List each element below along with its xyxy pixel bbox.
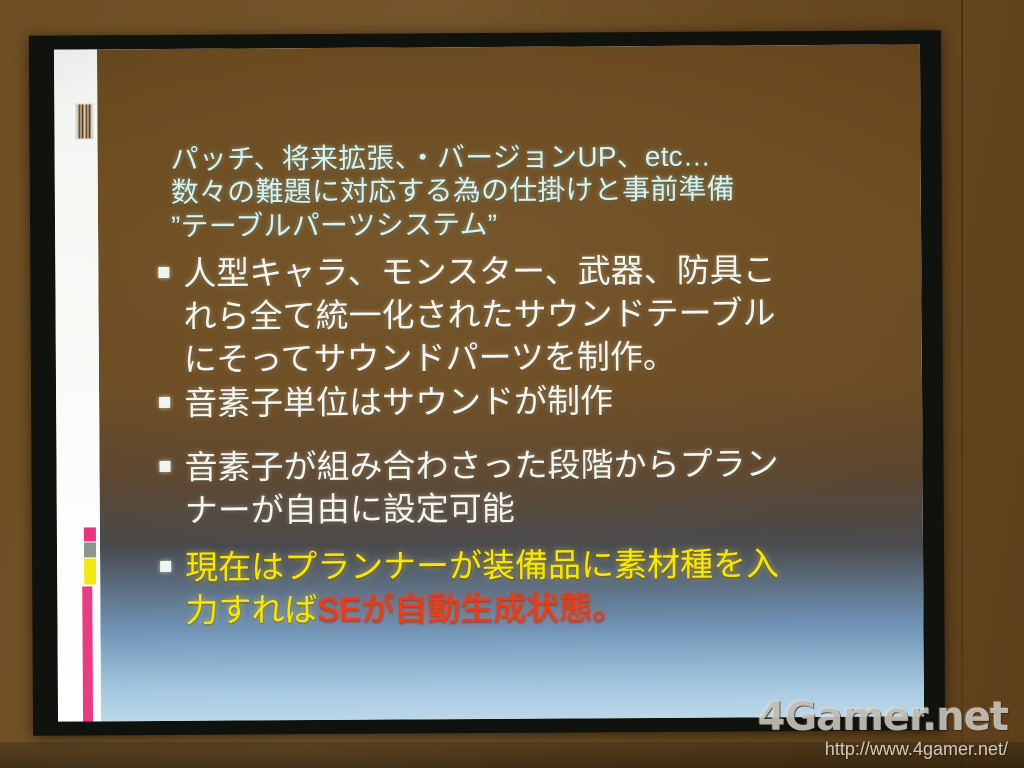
watermark-url: http://www.4gamer.net/ (758, 738, 1008, 760)
square-bullet-icon (159, 397, 170, 408)
watermark-logo: 4Gamer.net (758, 697, 1008, 737)
lede-line-1: パッチ、将来拡張、・バージョンUP、etc… (171, 140, 712, 176)
bullet-line: 現在はプランナーが装備品に素材種を入 (185, 541, 920, 588)
bullet-text: 現在はプランナーが装備品に素材種を入 力すればSEが自動生成状態。 (185, 541, 921, 631)
square-bullet-icon (159, 461, 170, 472)
bullet-item: 音素子が組み合わさった段階からプラン ナーが自由に設定可能 (159, 441, 920, 532)
slide-photo: パッチ、将来拡張、・バージョンUP、etc… 数々の難題に対応する為の仕掛けと事… (0, 0, 1024, 768)
bullet-line-plain: 力すれば (185, 591, 317, 629)
bullet-line: 力すればSEが自動生成状態。 (185, 584, 920, 631)
square-bullet-icon (158, 267, 169, 278)
bullet-line-highlight: SEが自動生成状態。 (317, 589, 625, 628)
slide-left-margin-column (54, 49, 101, 721)
swatch-yellow-icon (84, 558, 96, 584)
bullet-line: 音素子単位はサウンドが制作 (184, 377, 919, 424)
bullet-line: 音素子が組み合わさった段階からプラン (184, 441, 919, 488)
projection-screen-frame: パッチ、将来拡張、・バージョンUP、etc… 数々の難題に対応する為の仕掛けと事… (29, 30, 945, 736)
magenta-accent-bar (82, 586, 93, 721)
wall-seam (961, 0, 963, 768)
stripe-decoration-icon (75, 103, 93, 139)
bullet-item-highlighted: 現在はプランナーが装備品に素材種を入 力すればSEが自動生成状態。 (160, 541, 921, 632)
bullet-item: 音素子単位はサウンドが制作 (159, 377, 919, 425)
bullet-text: 人型キャラ、モンスター、武器、防具こ れら全て統一化されたサウンドテーブル にそ… (183, 247, 919, 380)
presentation-slide: パッチ、将来拡張、・バージョンUP、etc… 数々の難題に対応する為の仕掛けと事… (54, 44, 924, 721)
swatch-gray-icon (84, 542, 96, 557)
bullet-item: 人型キャラ、モンスター、武器、防具こ れら全て統一化されたサウンドテーブル にそ… (158, 247, 919, 381)
lede-line-3: ”テーブルパーツシステム” (171, 208, 497, 243)
watermark: 4Gamer.net http://www.4gamer.net/ (758, 697, 1008, 760)
bullet-text: 音素子単位はサウンドが制作 (184, 377, 919, 424)
slide-text-layer: パッチ、将来拡張、・バージョンUP、etc… 数々の難題に対応する為の仕掛けと事… (97, 44, 924, 721)
bullet-line: 人型キャラ、モンスター、武器、防具こ (183, 247, 918, 294)
bullet-text: 音素子が組み合わさった段階からプラン ナーが自由に設定可能 (184, 441, 920, 531)
bullet-line: れら全て統一化されたサウンドテーブル (183, 290, 918, 337)
swatch-pink-icon (84, 527, 96, 541)
square-bullet-icon (160, 561, 171, 572)
bullet-line: ナーが自由に設定可能 (185, 484, 920, 531)
bullet-line: にそってサウンドパーツを制作。 (184, 333, 919, 380)
lede-line-2: 数々の難題に対応する為の仕掛けと事前準備 (171, 172, 735, 208)
